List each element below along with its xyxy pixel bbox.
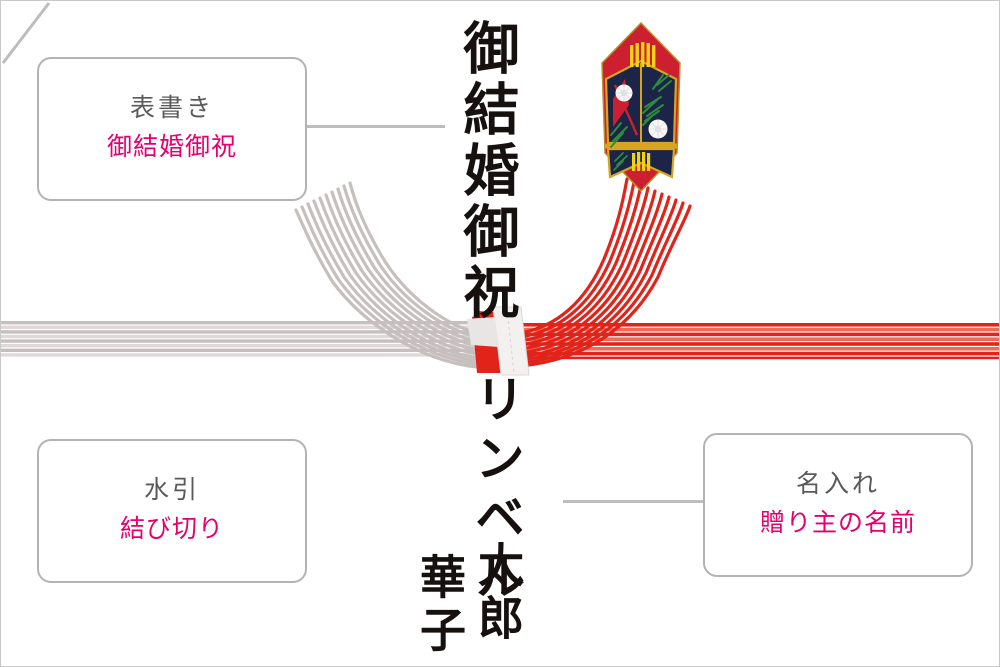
mizuhiki-band-left — [1, 321, 501, 357]
chrysanthemum-icon-upper — [616, 85, 633, 102]
noshi-diagram-canvas: 御結婚御祝 リンベル 太郎 華子 表書き 御結婚御祝 水引 結び切り 名入れ 贈… — [0, 0, 1000, 667]
callout-mizuhiki-title: 水引 — [144, 475, 200, 506]
callout-omotegaki-title: 表書き — [130, 93, 214, 124]
callout-nairei-title: 名入れ — [796, 469, 880, 500]
chrysanthemum-icon-lower — [649, 120, 668, 139]
callout-omotegaki-value: 御結婚御祝 — [107, 131, 237, 165]
noshi-ornament — [602, 23, 680, 191]
callout-mizuhiki-value: 結び切り — [120, 513, 224, 547]
callout-nairei-value: 贈り主の名前 — [760, 507, 916, 541]
callout-nairei[interactable]: 名入れ 贈り主の名前 — [703, 433, 973, 577]
noshi-title-text: 御結婚御祝 — [459, 19, 515, 324]
leader-line-nairei — [563, 500, 704, 503]
callout-omotegaki[interactable]: 表書き 御結婚御祝 — [37, 57, 307, 201]
noshi-name-line-2: 太郎 — [475, 541, 521, 647]
leader-line-omotegaki — [307, 125, 445, 128]
callout-mizuhiki[interactable]: 水引 結び切り — [37, 439, 307, 583]
noshi-name-line-3: 華子 — [417, 553, 463, 659]
